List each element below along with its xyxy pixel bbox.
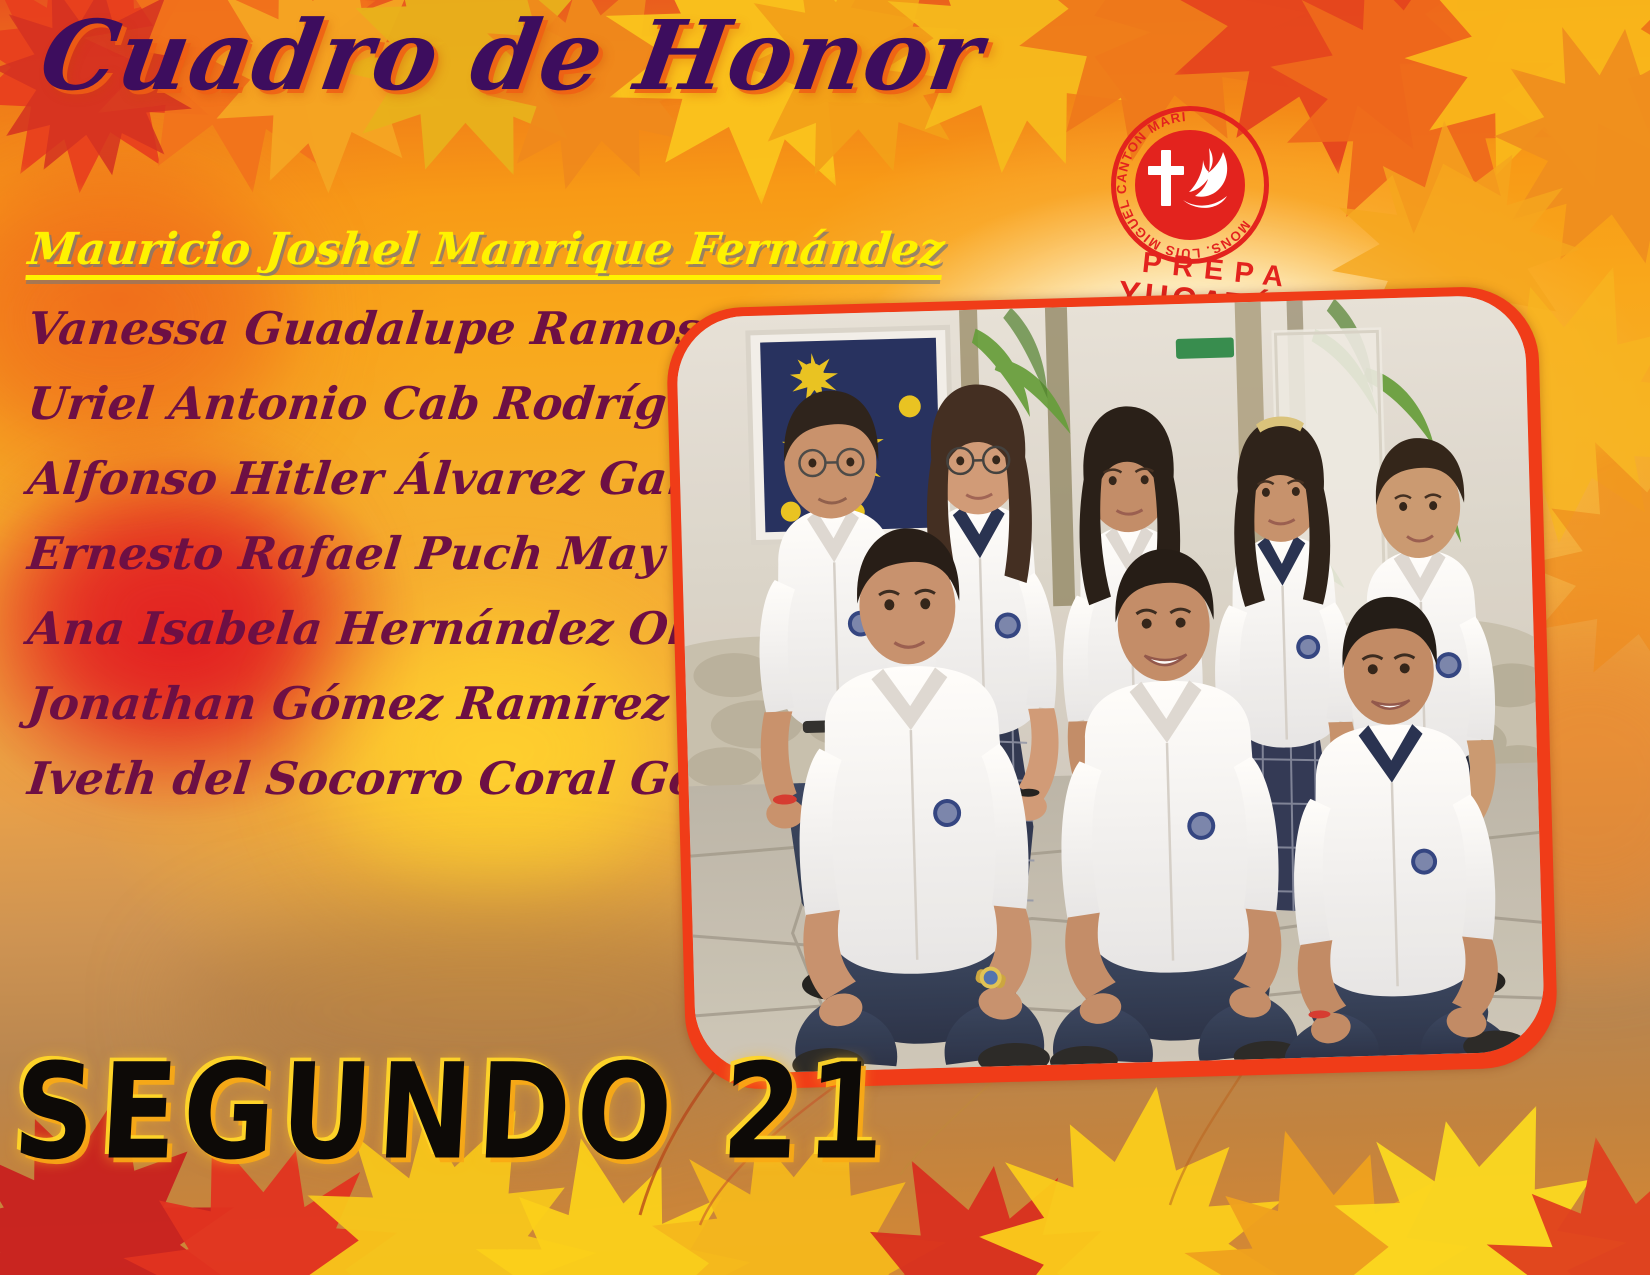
grade-label: SEGUNDO 21 — [10, 1036, 895, 1189]
cross-icon — [1161, 150, 1171, 206]
honor-roll-poster: Cuadro de Honor Mauricio Joshel Manrique… — [0, 0, 1650, 1275]
flame-dove-icon — [1179, 146, 1231, 212]
page-title: Cuadro de Honor — [34, 6, 989, 107]
group-photo-frame — [665, 285, 1558, 1091]
group-photo — [676, 294, 1546, 1074]
list-item-top-student: Mauricio Joshel Manrique Fernández — [25, 228, 946, 280]
